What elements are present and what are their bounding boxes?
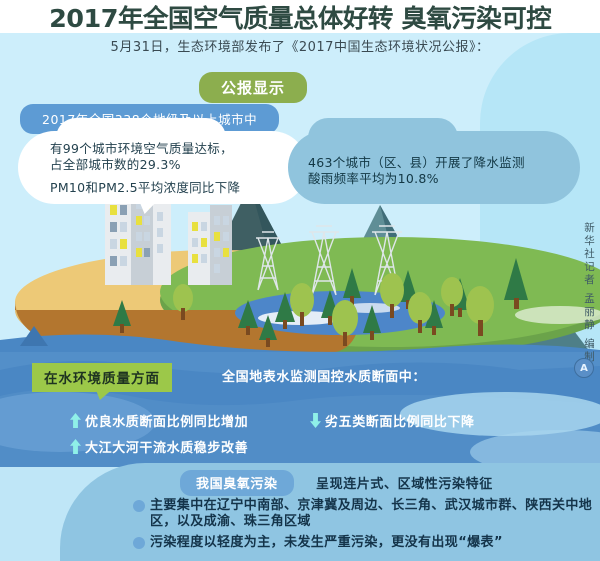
credit-text: 新华社记者 孟丽静 编制 xyxy=(582,222,597,364)
water-row-2: 劣五类断面比例同比下降 xyxy=(310,411,475,430)
bullet-dot-icon xyxy=(133,500,145,512)
air-line-1: 有99个城市环境空气质量达标， xyxy=(50,141,233,156)
water-heading: 全国地表水监测国控水质断面中： xyxy=(222,366,426,385)
up-arrow-icon xyxy=(70,439,81,454)
down-arrow-icon xyxy=(310,413,321,428)
bullet-dot-icon xyxy=(133,537,145,549)
ozone-point-1: 主要集中在辽宁中南部、京津冀及周边、长三角、武汉城市群、陕西关中地区，以及成渝、… xyxy=(133,498,600,530)
up-arrow-icon xyxy=(70,413,81,428)
infographic-poster: 2017年全国空气质量总体好转 臭氧污染可控 xyxy=(0,0,600,561)
water-row-2-text: 劣五类断面比例同比下降 xyxy=(325,411,475,430)
ozone-label-badge[interactable]: 我国臭氧污染 xyxy=(180,470,294,496)
ozone-point-2: 污染程度以轻度为主，未发生严重污染，更没有出现“爆表” xyxy=(133,535,600,551)
rain-line-1: 463个城市（区、县）开展了降水监测 xyxy=(308,155,525,170)
rain-line-2: 酸雨频率平均为10.8% xyxy=(308,171,439,186)
water-row-1-text: 优良水质断面比例同比增加 xyxy=(85,411,248,430)
air-quality-cloud: 有99个城市环境空气质量达标， 占全部城市数的29.3% PM10和PM2.5平… xyxy=(18,131,308,204)
ozone-point-1-text: 主要集中在辽宁中南部、京津冀及周边、长三角、武汉城市群、陕西关中地区，以及成渝、… xyxy=(150,498,600,530)
air-line-2: 占全部城市数的29.3% xyxy=(50,157,181,172)
air-quality-text: 有99个城市环境空气质量达标， 占全部城市数的29.3% PM10和PM2.5平… xyxy=(50,141,300,196)
air-line-3: PM10和PM2.5平均浓度同比下降 xyxy=(50,180,300,196)
ozone-tagline: 呈现连片式、区域性污染特征 xyxy=(316,473,493,492)
rain-monitoring-cloud: 463个城市（区、县）开展了降水监测 酸雨频率平均为10.8% xyxy=(288,131,580,204)
title-bar: 2017年全国空气质量总体好转 臭氧污染可控 xyxy=(0,0,600,33)
page-title: 2017年全国空气质量总体好转 臭氧污染可控 xyxy=(49,0,551,35)
water-section-label[interactable]: 在水环境质量方面 xyxy=(32,363,172,392)
water-label-text: 在水环境质量方面 xyxy=(44,371,160,387)
ozone-point-2-text: 污染程度以轻度为主，未发生严重污染，更没有出现“爆表” xyxy=(150,535,503,551)
water-row-1: 优良水质断面比例同比增加 xyxy=(70,411,248,430)
xinhua-logo-icon: A xyxy=(574,358,594,378)
subtitle: 5月31日，生态环境部发布了《2017中国生态环境状况公报》： xyxy=(0,36,600,55)
report-shows-badge[interactable]: 公报显示 xyxy=(199,72,307,103)
water-row-3-text: 大江大河干流水质稳步改善 xyxy=(85,437,248,456)
water-row-3: 大江大河干流水质稳步改善 xyxy=(70,437,248,456)
rain-monitoring-text: 463个城市（区、县）开展了降水监测 酸雨频率平均为10.8% xyxy=(308,155,573,187)
